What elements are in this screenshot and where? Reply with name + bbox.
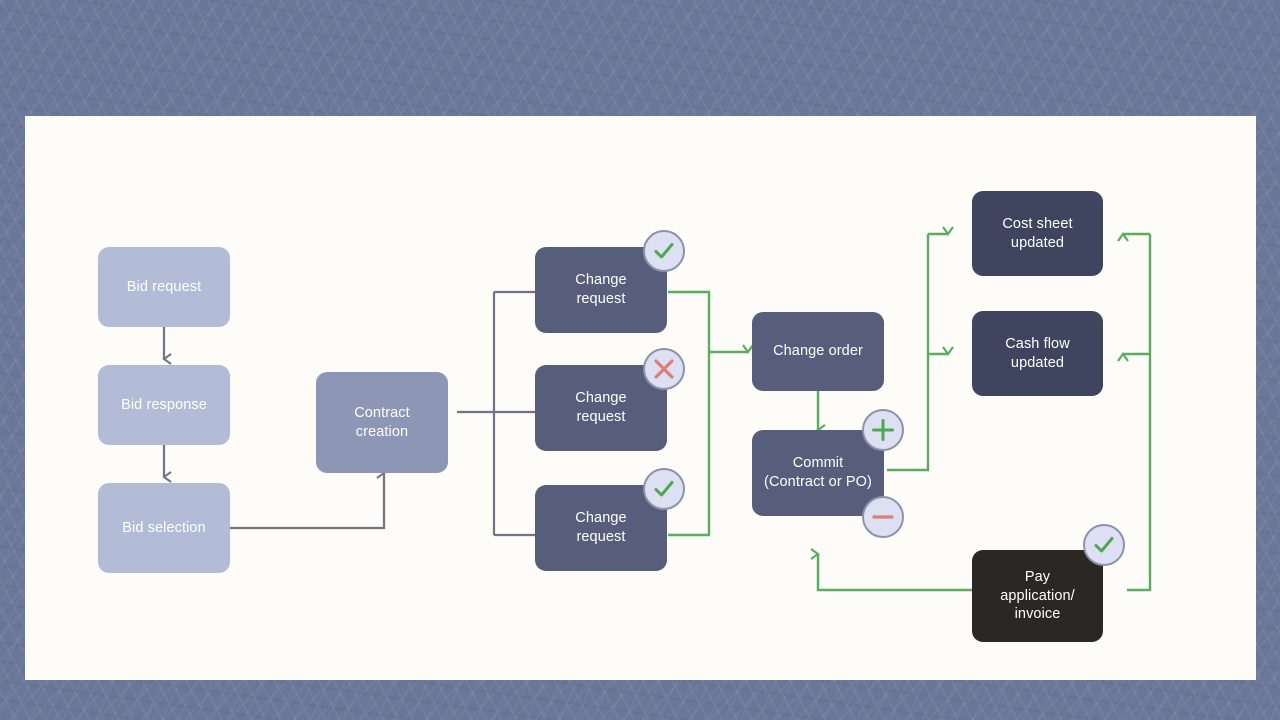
flowchart-diagram: Bid request Bid response Bid selection C… xyxy=(25,116,1256,680)
minus-icon xyxy=(870,504,896,530)
node-bid-response[interactable]: Bid response xyxy=(98,365,230,445)
node-contract-creation[interactable]: Contract creation xyxy=(316,372,448,473)
badge-change-request-1-approved[interactable] xyxy=(643,230,685,272)
edge-change-request-1-to-merge xyxy=(668,292,709,352)
node-bid-response-label: Bid response xyxy=(121,396,207,415)
badge-change-request-3-approved[interactable] xyxy=(643,468,685,510)
badge-commit-decrease[interactable] xyxy=(862,496,904,538)
cross-icon xyxy=(652,357,676,381)
node-pay-application-invoice[interactable]: Pay application/ invoice xyxy=(972,550,1103,642)
node-commit-label: Commit (Contract or PO) xyxy=(764,454,872,491)
check-icon xyxy=(1091,532,1117,558)
check-icon xyxy=(651,476,677,502)
node-pay-application-invoice-label: Pay application/ invoice xyxy=(1000,568,1075,624)
node-cost-sheet-updated-label: Cost sheet updated xyxy=(1002,215,1072,252)
badge-commit-increase[interactable] xyxy=(862,409,904,451)
diagram-canvas: Bid request Bid response Bid selection C… xyxy=(25,116,1256,680)
node-change-request-2-label: Change request xyxy=(575,389,626,426)
check-icon xyxy=(651,238,677,264)
edge-bid-selection-to-contract-creation xyxy=(230,473,384,528)
node-bid-selection-label: Bid selection xyxy=(122,519,206,538)
node-bid-request-label: Bid request xyxy=(127,278,201,297)
edge-pay-application-to-commit xyxy=(818,554,972,590)
node-change-request-1-label: Change request xyxy=(575,271,626,308)
badge-pay-application-approved[interactable] xyxy=(1083,524,1125,566)
node-cash-flow-updated-label: Cash flow updated xyxy=(1005,335,1070,372)
node-contract-creation-label: Contract creation xyxy=(354,404,410,441)
badge-change-request-2-rejected[interactable] xyxy=(643,348,685,390)
node-cost-sheet-updated[interactable]: Cost sheet updated xyxy=(972,191,1103,276)
node-change-request-3-label: Change request xyxy=(575,509,626,546)
node-change-order-label: Change order xyxy=(773,342,863,361)
edge-pay-application-right-rail xyxy=(1127,234,1150,590)
node-change-order[interactable]: Change order xyxy=(752,312,884,391)
slide-root: Bid request Bid response Bid selection C… xyxy=(0,0,1280,720)
node-commit[interactable]: Commit (Contract or PO) xyxy=(752,430,884,516)
node-cash-flow-updated[interactable]: Cash flow updated xyxy=(972,311,1103,396)
plus-icon xyxy=(870,417,896,443)
node-bid-request[interactable]: Bid request xyxy=(98,247,230,327)
node-bid-selection[interactable]: Bid selection xyxy=(98,483,230,573)
